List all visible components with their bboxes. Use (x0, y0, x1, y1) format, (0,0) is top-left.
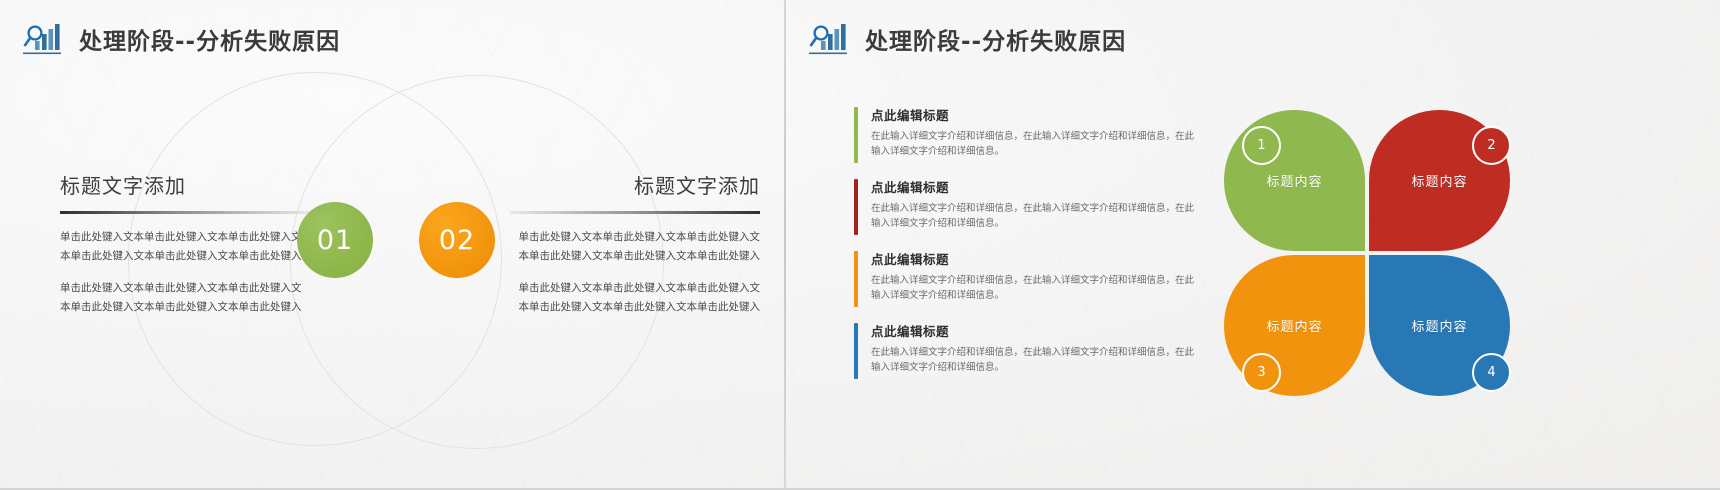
list-item-body: 在此输入详细文字介绍和详细信息，在此输入详细文字介绍和详细信息，在此输入详细文字… (871, 345, 1199, 375)
list-item-accent-bar (854, 323, 858, 379)
step-bubble-01[interactable]: 01 (297, 202, 373, 278)
list-item[interactable]: 点此编辑标题 在此输入详细文字介绍和详细信息，在此输入详细文字介绍和详细信息，在… (854, 249, 1199, 303)
clover-diagram: 标题内容 标题内容 标题内容 标题内容 1 2 3 4 (1224, 110, 1514, 400)
left-column-divider (60, 211, 310, 214)
clover-badge-2[interactable]: 2 (1472, 126, 1511, 165)
list-item[interactable]: 点此编辑标题 在此输入详细文字介绍和详细信息，在此输入详细文字介绍和详细信息，在… (854, 105, 1199, 159)
clover-badge-4[interactable]: 4 (1472, 353, 1511, 392)
list-item-body: 在此输入详细文字介绍和详细信息，在此输入详细文字介绍和详细信息，在此输入详细文字… (871, 129, 1199, 159)
list-item-accent-bar (854, 107, 858, 163)
slide-left-title: 处理阶段--分析失败原因 (79, 22, 340, 56)
clover-badge-1[interactable]: 1 (1242, 126, 1281, 165)
slide-right-title: 处理阶段--分析失败原因 (865, 22, 1126, 56)
right-column-paragraph: 单击此处键入文本单击此处键入文本单击此处键入文本单击此处键入文本单击此处键入文本… (510, 279, 760, 317)
list-item-accent-bar (854, 251, 858, 307)
list-item-title: 点此编辑标题 (871, 177, 1199, 196)
list-item-accent-bar (854, 179, 858, 235)
slide-left: 处理阶段--分析失败原因 标题文字添加 单击此处键入文本单击此处键入文本单击此处… (0, 0, 785, 490)
clover-petal-label: 标题内容 (1411, 316, 1467, 335)
list-item-body: 在此输入详细文字介绍和详细信息，在此输入详细文字介绍和详细信息，在此输入详细文字… (871, 201, 1199, 231)
slide-right: 处理阶段--分析失败原因 点此编辑标题 在此输入详细文字介绍和详细信息，在此输入… (786, 0, 1720, 490)
right-column-title: 标题文字添加 (510, 170, 760, 199)
slide-right-header: 处理阶段--分析失败原因 (808, 22, 1126, 56)
list-item-title: 点此编辑标题 (871, 321, 1199, 340)
clover-petal-label: 标题内容 (1411, 171, 1467, 190)
list-item-body: 在此输入详细文字介绍和详细信息，在此输入详细文字介绍和详细信息，在此输入详细文字… (871, 273, 1199, 303)
right-text-column: 标题文字添加 单击此处键入文本单击此处键入文本单击此处键入文本单击此处键入文本单… (510, 170, 760, 330)
chart-search-icon (22, 22, 64, 56)
clover-badge-3[interactable]: 3 (1242, 353, 1281, 392)
list-item-title: 点此编辑标题 (871, 249, 1199, 268)
list-item[interactable]: 点此编辑标题 在此输入详细文字介绍和详细信息，在此输入详细文字介绍和详细信息，在… (854, 177, 1199, 231)
chart-search-icon (808, 22, 850, 56)
right-column-divider (510, 211, 760, 214)
left-column-title: 标题文字添加 (60, 170, 310, 199)
left-text-column: 标题文字添加 单击此处键入文本单击此处键入文本单击此处键入文本单击此处键入文本单… (60, 170, 310, 330)
left-column-paragraph: 单击此处键入文本单击此处键入文本单击此处键入文本单击此处键入文本单击此处键入文本… (60, 228, 310, 266)
step-bubble-02[interactable]: 02 (419, 202, 495, 278)
feature-list: 点此编辑标题 在此输入详细文字介绍和详细信息，在此输入详细文字介绍和详细信息，在… (854, 105, 1199, 393)
left-column-paragraph: 单击此处键入文本单击此处键入文本单击此处键入文本单击此处键入文本单击此处键入文本… (60, 279, 310, 317)
slides-canvas: 处理阶段--分析失败原因 标题文字添加 单击此处键入文本单击此处键入文本单击此处… (0, 0, 1720, 490)
right-column-paragraph: 单击此处键入文本单击此处键入文本单击此处键入文本单击此处键入文本单击此处键入文本… (510, 228, 760, 266)
clover-petal-1[interactable]: 标题内容 (1224, 110, 1365, 251)
slide-left-header: 处理阶段--分析失败原因 (22, 22, 340, 56)
list-item[interactable]: 点此编辑标题 在此输入详细文字介绍和详细信息，在此输入详细文字介绍和详细信息，在… (854, 321, 1199, 375)
clover-petal-label: 标题内容 (1266, 316, 1322, 335)
list-item-title: 点此编辑标题 (871, 105, 1199, 124)
clover-petal-label: 标题内容 (1266, 171, 1322, 190)
